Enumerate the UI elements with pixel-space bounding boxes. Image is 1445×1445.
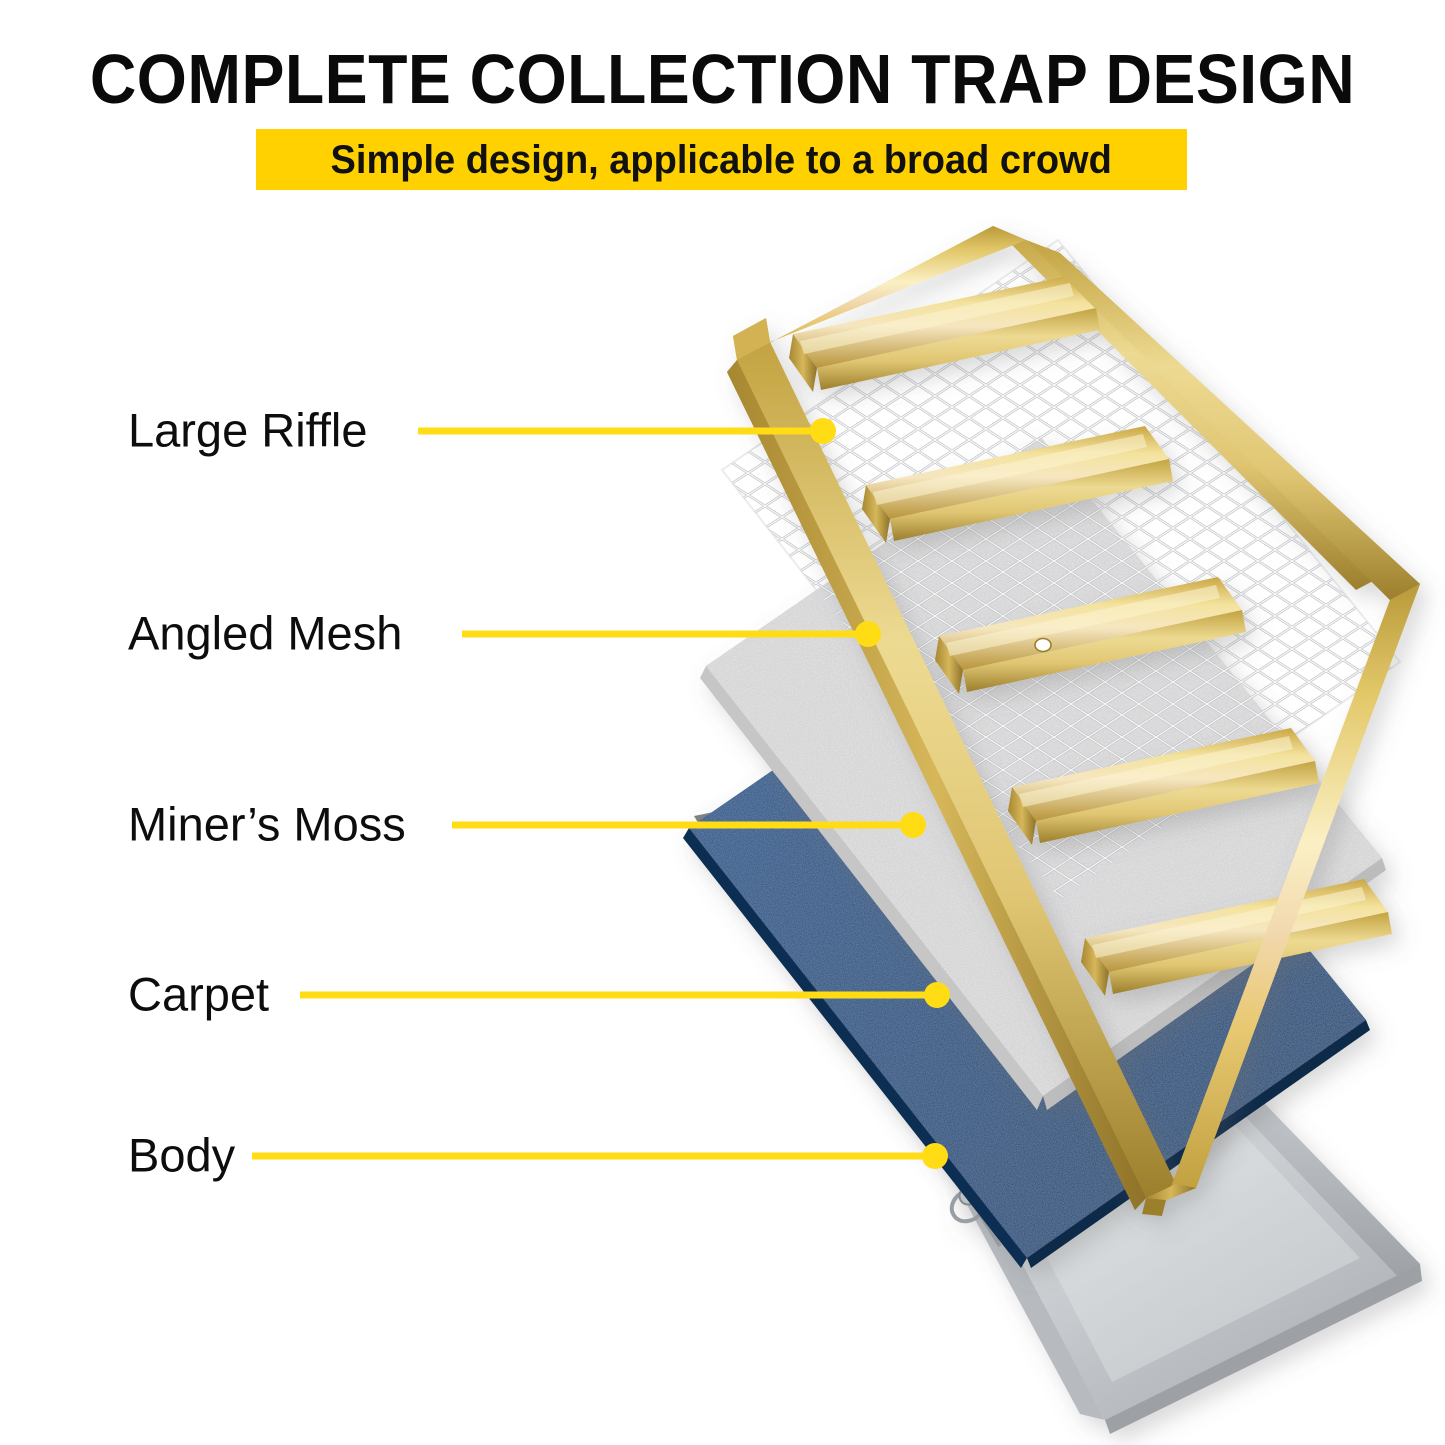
layer-angled-mesh bbox=[700, 225, 1420, 925]
riffle-bar bbox=[935, 577, 1246, 694]
header-block: COMPLETE COLLECTION TRAP DESIGN Simple d… bbox=[0, 0, 1445, 210]
leader-line-miners-moss bbox=[452, 822, 913, 829]
leader-dot-body bbox=[922, 1143, 948, 1169]
layer-body bbox=[694, 806, 1422, 1434]
page-title: COMPLETE COLLECTION TRAP DESIGN bbox=[58, 42, 1387, 116]
layer-miners-moss bbox=[690, 420, 1400, 1120]
leader-line-carpet bbox=[300, 992, 937, 999]
subtitle-text: Simple design, applicable to a broad cro… bbox=[331, 139, 1112, 181]
callout-label-carpet: Carpet bbox=[128, 971, 269, 1018]
riffle-bar bbox=[1008, 728, 1319, 845]
leader-line-angled-mesh bbox=[462, 631, 868, 638]
leader-dot-miners-moss bbox=[900, 812, 926, 838]
callout-label-miners-moss: Miner’s Moss bbox=[128, 801, 406, 848]
leader-line-large-riffle bbox=[418, 428, 823, 435]
rubber-matting bbox=[955, 1073, 1196, 1152]
layer-large-riffle bbox=[727, 226, 1420, 1216]
leader-dot-angled-mesh bbox=[855, 621, 881, 647]
callout-label-large-riffle: Large Riffle bbox=[128, 407, 368, 454]
layer-carpet bbox=[683, 598, 1370, 1268]
subtitle-banner: Simple design, applicable to a broad cro… bbox=[256, 129, 1187, 190]
leader-dot-large-riffle bbox=[810, 418, 836, 444]
latch-clip bbox=[952, 1192, 1000, 1246]
riffle-bar bbox=[862, 426, 1173, 543]
exploded-product-illustration bbox=[0, 0, 1445, 1445]
riffle-bar bbox=[789, 275, 1100, 392]
leader-dot-carpet bbox=[924, 982, 950, 1008]
callout-label-angled-mesh: Angled Mesh bbox=[128, 610, 402, 657]
callout-label-body: Body bbox=[128, 1132, 235, 1179]
leader-line-body bbox=[252, 1153, 935, 1160]
riffle-bar bbox=[1081, 879, 1392, 996]
